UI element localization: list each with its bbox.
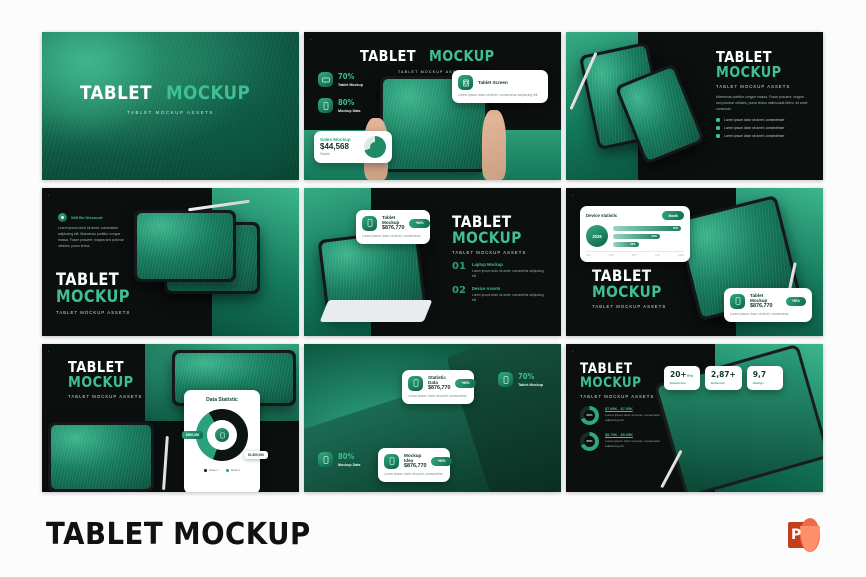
title-line-2: MOCKUP	[592, 284, 662, 300]
slide-discount[interactable]: + Will Be Discount Lorem ipsum dolor sit…	[42, 188, 299, 336]
slide-title-block: TABLET MOCKUP TABLET MOCKUP ASSETS 68% $…	[580, 362, 673, 451]
ring-percent: 68%	[580, 432, 599, 451]
ring-percent: 68%	[580, 406, 599, 425]
card-text: Lorem ipsum dolor sit amet, consectetur	[362, 234, 424, 239]
chart-bar: 30%	[613, 242, 639, 247]
card-note: /Month	[320, 152, 351, 157]
slide-subtitle: TABLET MOCKUP ASSETS	[42, 110, 299, 115]
ring-text: Lorem ipsum dolor sit amet, consectetur …	[605, 413, 673, 423]
item-number: 02	[452, 286, 466, 303]
title-line-2: MOCKUP	[580, 376, 660, 390]
legend-dot-icon	[204, 469, 207, 472]
bullet-dot-icon	[716, 134, 720, 138]
card-value: $44,568	[320, 142, 351, 151]
bullet-dot-icon	[716, 118, 720, 122]
slide-subtitle: TABLET MOCKUP ASSETS	[592, 304, 673, 309]
metric-experience[interactable]: 20+Yrs Experience	[664, 366, 700, 390]
axis-tick: 50%	[632, 254, 637, 257]
metric-value: 9,7	[753, 371, 777, 379]
card-pill-badge[interactable]: +80%	[409, 219, 429, 228]
slide-title-block: TABLET MOCKUP TABLET MOCKUP ASSETS	[68, 360, 144, 399]
chart-axis: 10% 30% 50% 70% 100%	[586, 251, 684, 257]
title-line-1: TABLET	[80, 84, 152, 103]
chart-bar: 60%	[613, 234, 660, 239]
discount-note: Will Be Discount Lorem ipsum dolor sit a…	[58, 213, 136, 250]
tablet-portrait-icon	[498, 372, 513, 387]
numbered-item-02: 02 Device Assets Lorem ipsum dolor sit a…	[452, 286, 544, 303]
axis-tick: 30%	[609, 254, 614, 257]
card-value: $876,770	[750, 303, 781, 309]
axis-tick: 100%	[678, 254, 684, 257]
legend-dot-icon	[226, 469, 229, 472]
card-title: Tablet Mockup	[382, 215, 404, 225]
stat-value: 70%	[518, 373, 539, 381]
discount-badge-icon	[58, 213, 67, 222]
stat-mockup-data: 80% Mockup Data	[318, 452, 360, 467]
tablet-portrait-icon	[318, 98, 333, 113]
item-title: Laptop Mockup	[472, 262, 544, 267]
slide-numbered-list[interactable]: Tablet Mockup $876,770 +80% Lorem ipsum …	[304, 188, 561, 336]
title-line-2: MOCKUP	[452, 230, 531, 246]
slide-title-block: TABLET MOCKUP TABLET MOCKUP ASSETS 01 La…	[452, 214, 544, 303]
slide-device-statistic[interactable]: + Device statistic Month 2026 90%	[566, 188, 823, 336]
slide-title-block: TABLET MOCKUP TABLET MOCKUP ASSETS	[592, 268, 673, 309]
tablet-mockup-card[interactable]: Tablet Mockup $876,770 +80% Lorem ipsum …	[724, 288, 812, 322]
statistic-data-card[interactable]: Statistic Data $876,770 +80% Lorem ipsum…	[402, 370, 474, 404]
slide-grid: TABLET MOCKUP TABLET MOCKUP ASSETS + TAB…	[42, 32, 824, 492]
data-statistic-chart-card[interactable]: Data Statistic $500,000 $1,500,000 Data …	[184, 390, 260, 492]
ring-stat-row: 68% $8.79K - $9.05K Lorem ipsum dolor si…	[580, 432, 673, 451]
tablet-device-front	[134, 210, 236, 282]
corner-mark: +	[572, 349, 574, 353]
stat-label: Tablet Mockup	[518, 383, 543, 387]
slide-subtitle: TABLET MOCKUP ASSETS	[452, 250, 544, 255]
title-line-1: TABLET	[580, 362, 660, 376]
card-value: $876,770	[382, 225, 404, 231]
product-title: TABLET MOCKUP	[46, 517, 311, 552]
stat-tablet-mockup: 70% Tablet Mockup	[318, 72, 363, 87]
item-text: Lorem ipsum dolor sit amet, consectetur …	[472, 293, 544, 303]
corner-mark: +	[48, 193, 50, 197]
bullet-text: Lorem ipsum dolor sit amet, consectetuer	[724, 134, 784, 138]
donut-label-data1: $500,000	[182, 431, 203, 439]
presentation-preview-page: TABLET MOCKUP TABLET MOCKUP ASSETS + TAB…	[0, 0, 866, 577]
tablet-portrait-icon	[408, 376, 423, 391]
card-pill-badge[interactable]: +80%	[786, 297, 806, 306]
tablet-stand	[320, 300, 433, 322]
bar-value-label: 90%	[673, 227, 678, 230]
ring-text: Lorem ipsum dolor sit amet, consectetur …	[605, 439, 673, 449]
item-number: 01	[452, 262, 466, 279]
axis-tick: 70%	[655, 254, 660, 257]
card-text: Lorem ipsum dolor sit amet, consectetur …	[458, 93, 542, 98]
stat-value: 80%	[338, 99, 357, 107]
tablet-screen	[51, 425, 151, 489]
mockup-idea-card[interactable]: Mockup Idea $876,770 +80% Lorem ipsum do…	[378, 448, 450, 482]
slide-data-statistic[interactable]: + TABLET MOCKUP TABLET MOCKUP ASSETS Dat…	[42, 344, 299, 492]
legend-item: Data 1	[204, 468, 218, 472]
legend-item: Data 2	[226, 468, 240, 472]
stylus-pencil	[162, 436, 169, 490]
donut-center-icon	[215, 428, 229, 442]
tablet-portrait-icon	[362, 216, 377, 231]
stat-tablet-mockup: 70% Tablet Mockup	[498, 372, 543, 387]
ring-stat-row: 68% $7.89K - $7.05K Lorem ipsum dolor si…	[580, 406, 673, 425]
chart-period-pill[interactable]: Month	[662, 211, 684, 220]
metric-box-row: 20+Yrs Experience 2,87+ Delivered 9,7 Ra…	[664, 366, 783, 390]
title-line-2: MOCKUP	[166, 84, 250, 103]
chart-title: Device statistic	[586, 213, 617, 218]
slide-title-block: TABLET MOCKUP TABLET MOCKUP ASSETS	[56, 272, 142, 315]
axis-tick: 10%	[586, 254, 591, 257]
tablet-landscape-icon	[318, 72, 333, 87]
chart-year-badge: 2026	[586, 225, 608, 247]
chart-header: Device statistic Month	[586, 211, 684, 220]
slide-floating-tablets[interactable]: TABLET MOCKUP TABLET MOCKUP ASSETS Maece…	[566, 32, 823, 180]
metric-label: Ratings	[753, 381, 777, 385]
tablet-portrait-icon	[384, 454, 399, 469]
donut-icon	[364, 136, 386, 158]
card-title: Mockup Idea	[404, 453, 426, 463]
legend-label: Data 1	[209, 468, 218, 472]
metric-value: 20+Yrs	[670, 371, 694, 379]
donut-label-data2: $1,500,000	[244, 451, 268, 459]
progress-ring: 68%	[580, 432, 599, 451]
card-text: Lorem ipsum dolor sit amet, consectetur	[384, 472, 444, 477]
tablet-screen-card[interactable]: Tablet Screen Lorem ipsum dolor sit amet…	[452, 70, 548, 103]
chart-title: Data Statistic	[206, 397, 238, 403]
item-text: Lorem ipsum dolor sit amet, consectetur …	[472, 269, 544, 279]
slide-two-cards[interactable]: Statistic Data $876,770 +80% Lorem ipsum…	[304, 344, 561, 492]
slide-subtitle: TABLET MOCKUP ASSETS	[68, 394, 144, 399]
title-line-2: MOCKUP	[68, 375, 134, 390]
chart-legend: Data 1 Data 2	[204, 468, 240, 472]
bullet-text: Lorem ipsum dolor sit amet, consectetuer	[724, 126, 784, 130]
card-title: Tablet Screen	[478, 80, 508, 85]
tablet-screen	[137, 213, 233, 279]
donut-chart: $500,000 $1,500,000	[196, 409, 248, 461]
bullet-text: Lorem ipsum dolor sit amet, consectetuer	[724, 118, 784, 122]
card-pill-badge[interactable]: +80%	[455, 379, 475, 388]
stat-label: Tablet Mockup	[338, 83, 363, 87]
bullet-item: Lorem ipsum dolor sit amet, consectetuer	[716, 118, 808, 122]
metric-ratings[interactable]: 9,7 Ratings	[747, 366, 783, 390]
tablet-portrait-icon	[730, 294, 745, 309]
metric-value: 2,87+	[711, 371, 736, 379]
numbered-item-01: 01 Laptop Mockup Lorem ipsum dolor sit a…	[452, 262, 544, 279]
corner-mark: +	[572, 193, 574, 197]
metric-delivered[interactable]: 2,87+ Delivered	[705, 366, 742, 390]
ring-title: $8.79K - $9.05K	[605, 433, 673, 437]
slide-hands-tablet[interactable]: + TABLET MOCKUP TABLET MOCKUP ASSETS 70%…	[304, 32, 561, 180]
stat-value: 70%	[338, 73, 359, 81]
title-line-2: MOCKUP	[716, 65, 795, 80]
chart-body: 2026 90% 60% 30%	[586, 225, 684, 247]
device-statistic-chart-card[interactable]: Device statistic Month 2026 90% 60% 30%	[580, 206, 690, 262]
sales-mockup-card[interactable]: Sales Mockup $44,568 /Month	[314, 131, 392, 163]
tablet-mockup-card[interactable]: Tablet Mockup $876,770 +80% Lorem ipsum …	[356, 210, 430, 244]
card-text: Lorem ipsum dolor sit amet, consectetur	[730, 312, 806, 317]
metric-unit: Yrs	[687, 374, 693, 378]
title-line-2: MOCKUP	[429, 49, 495, 64]
card-title: Statistic Data	[428, 375, 450, 385]
slide-subtitle: TABLET MOCKUP ASSETS	[56, 310, 142, 315]
slide-title-block: TABLET MOCKUP TABLET MOCKUP ASSETS	[42, 84, 299, 115]
ring-title: $7.89K - $7.05K	[605, 407, 673, 411]
slide-metrics[interactable]: + TABLET MOCKUP TABLET MOCKUP ASSETS 68%…	[566, 344, 823, 492]
stat-label: Mockup Data	[338, 463, 360, 467]
bar-value-label: 30%	[630, 243, 635, 246]
powerpoint-icon: P	[786, 518, 820, 552]
bullet-dot-icon	[716, 126, 720, 130]
chart-bars: 90% 60% 30%	[613, 226, 684, 247]
slide-subtitle: TABLET MOCKUP ASSETS	[580, 394, 673, 399]
bullet-item: Lorem ipsum dolor sit amet, consectetuer	[716, 134, 808, 138]
chart-bar: 90%	[613, 226, 681, 231]
progress-ring: 68%	[580, 406, 599, 425]
note-title: Will Be Discount	[71, 215, 103, 220]
footer-bar: TABLET MOCKUP P	[0, 492, 866, 577]
slide-paragraph: Maecenas porttitor congue massa. Fusce p…	[716, 95, 808, 113]
stat-mockup-data: 80% Mockup Data	[318, 98, 360, 113]
hand-right	[482, 110, 506, 180]
corner-mark: +	[310, 37, 312, 41]
card-text: Lorem ipsum dolor sit amet, consectetur	[408, 394, 468, 399]
card-title: Tablet Mockup	[750, 293, 781, 303]
tablet-portrait-icon	[318, 452, 333, 467]
bullet-list: Lorem ipsum dolor sit amet, consectetuer…	[716, 118, 808, 138]
bar-value-label: 60%	[652, 235, 657, 238]
bullet-item: Lorem ipsum dolor sit amet, consectetuer	[716, 126, 808, 130]
title-line-1: TABLET	[360, 49, 416, 64]
tablet-screen-icon	[458, 75, 473, 90]
stat-value: 80%	[338, 453, 357, 461]
item-title: Device Assets	[472, 286, 544, 291]
slide-subtitle: TABLET MOCKUP ASSETS	[716, 84, 808, 89]
tablet-device-bottom	[48, 422, 154, 492]
corner-mark: +	[48, 349, 50, 353]
metric-label: Experience	[670, 381, 694, 385]
legend-label: Data 2	[231, 468, 240, 472]
slide-title-block: TABLET MOCKUP TABLET MOCKUP ASSETS Maece…	[716, 50, 808, 138]
card-value: $876,770	[404, 463, 426, 469]
card-value: $876,770	[428, 385, 450, 391]
stat-label: Mockup Data	[338, 109, 360, 113]
metric-label: Delivered	[711, 381, 736, 385]
title-line-2: MOCKUP	[56, 289, 130, 306]
powerpoint-letter: P	[791, 527, 801, 543]
slide-cover[interactable]: TABLET MOCKUP TABLET MOCKUP ASSETS	[42, 32, 299, 180]
card-pill-badge[interactable]: +80%	[431, 457, 451, 466]
note-text: Lorem ipsum dolor sit amet, consectetur …	[58, 226, 128, 250]
